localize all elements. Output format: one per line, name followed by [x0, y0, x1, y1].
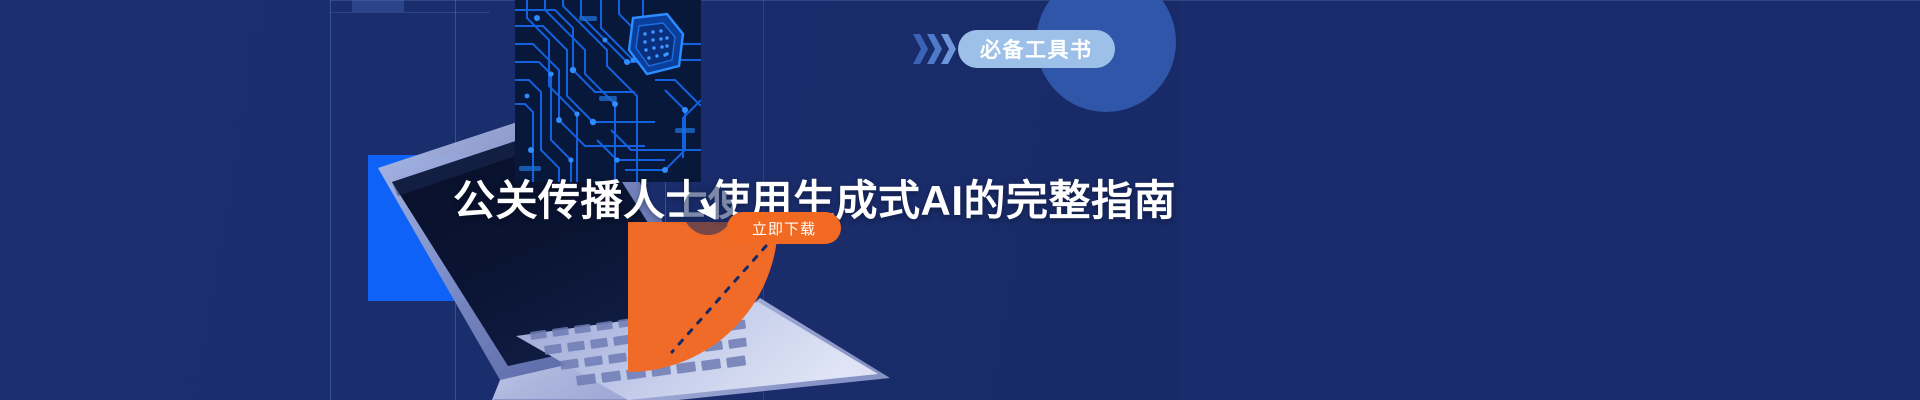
badge-label: 必备工具书 — [958, 30, 1115, 68]
cursor-arrow-icon — [683, 185, 733, 235]
badge: 必备工具书 — [912, 30, 1115, 68]
chevron-right-icon — [940, 32, 957, 66]
grid-line-horizontal-upper — [330, 12, 490, 13]
promo-banner: 必备工具书 公关传播人士使用生成式AI的完整指南 立即下载 — [0, 0, 1920, 400]
download-button[interactable]: 立即下载 — [727, 212, 841, 244]
circuit-board-texture — [515, 0, 701, 182]
grid-square-decoration — [352, 0, 404, 12]
banner-right-fill — [1180, 0, 1920, 400]
badge-chevrons — [912, 32, 954, 66]
